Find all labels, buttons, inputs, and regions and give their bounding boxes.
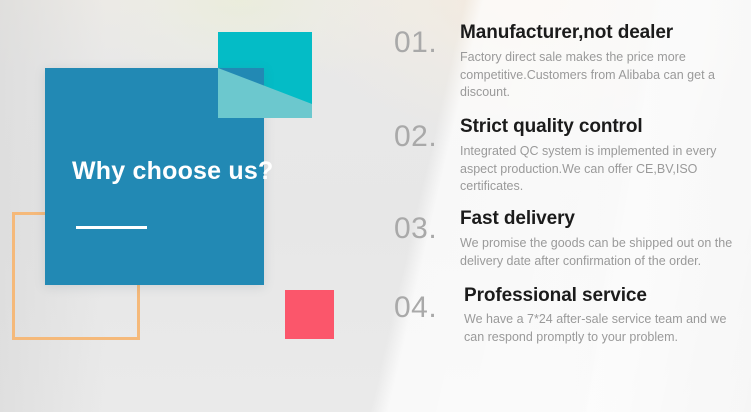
- feature-title-04: Professional service: [464, 285, 742, 307]
- title-underline-rule: [76, 226, 147, 229]
- red-square: [285, 290, 334, 339]
- feature-description-01: Factory direct sale makes the price more…: [460, 49, 742, 102]
- feature-description-02: Integrated QC system is implemented in e…: [460, 143, 742, 196]
- feature-description-04: We have a 7*24 after-sale service team a…: [464, 311, 742, 347]
- feature-title-01: Manufacturer,not dealer: [460, 22, 742, 44]
- feature-number-01: 01.: [394, 22, 458, 58]
- feature-item-02: 02. Strict quality control Integrated QC…: [394, 116, 742, 196]
- feature-body-02: Strict quality control Integrated QC sys…: [458, 116, 742, 196]
- feature-item-01: 01. Manufacturer,not dealer Factory dire…: [394, 22, 742, 102]
- feature-title-03: Fast delivery: [460, 208, 742, 230]
- feature-description-03: We promise the goods can be shipped out …: [460, 235, 742, 271]
- feature-body-01: Manufacturer,not dealer Factory direct s…: [458, 22, 742, 102]
- feature-list: 01. Manufacturer,not dealer Factory dire…: [394, 22, 742, 356]
- feature-number-02: 02.: [394, 116, 458, 152]
- page-title: Why choose us?: [72, 158, 282, 186]
- feature-number-04: 04.: [394, 285, 458, 323]
- feature-title-02: Strict quality control: [460, 116, 742, 138]
- feature-body-03: Fast delivery We promise the goods can b…: [458, 208, 742, 270]
- feature-item-04: 04. Professional service We have a 7*24 …: [394, 285, 742, 347]
- feature-body-04: Professional service We have a 7*24 afte…: [458, 285, 742, 347]
- feature-item-03: 03. Fast delivery We promise the goods c…: [394, 208, 742, 270]
- feature-number-03: 03.: [394, 208, 458, 244]
- why-choose-us-slide: Why choose us? 01. Manufacturer,not deal…: [0, 0, 751, 412]
